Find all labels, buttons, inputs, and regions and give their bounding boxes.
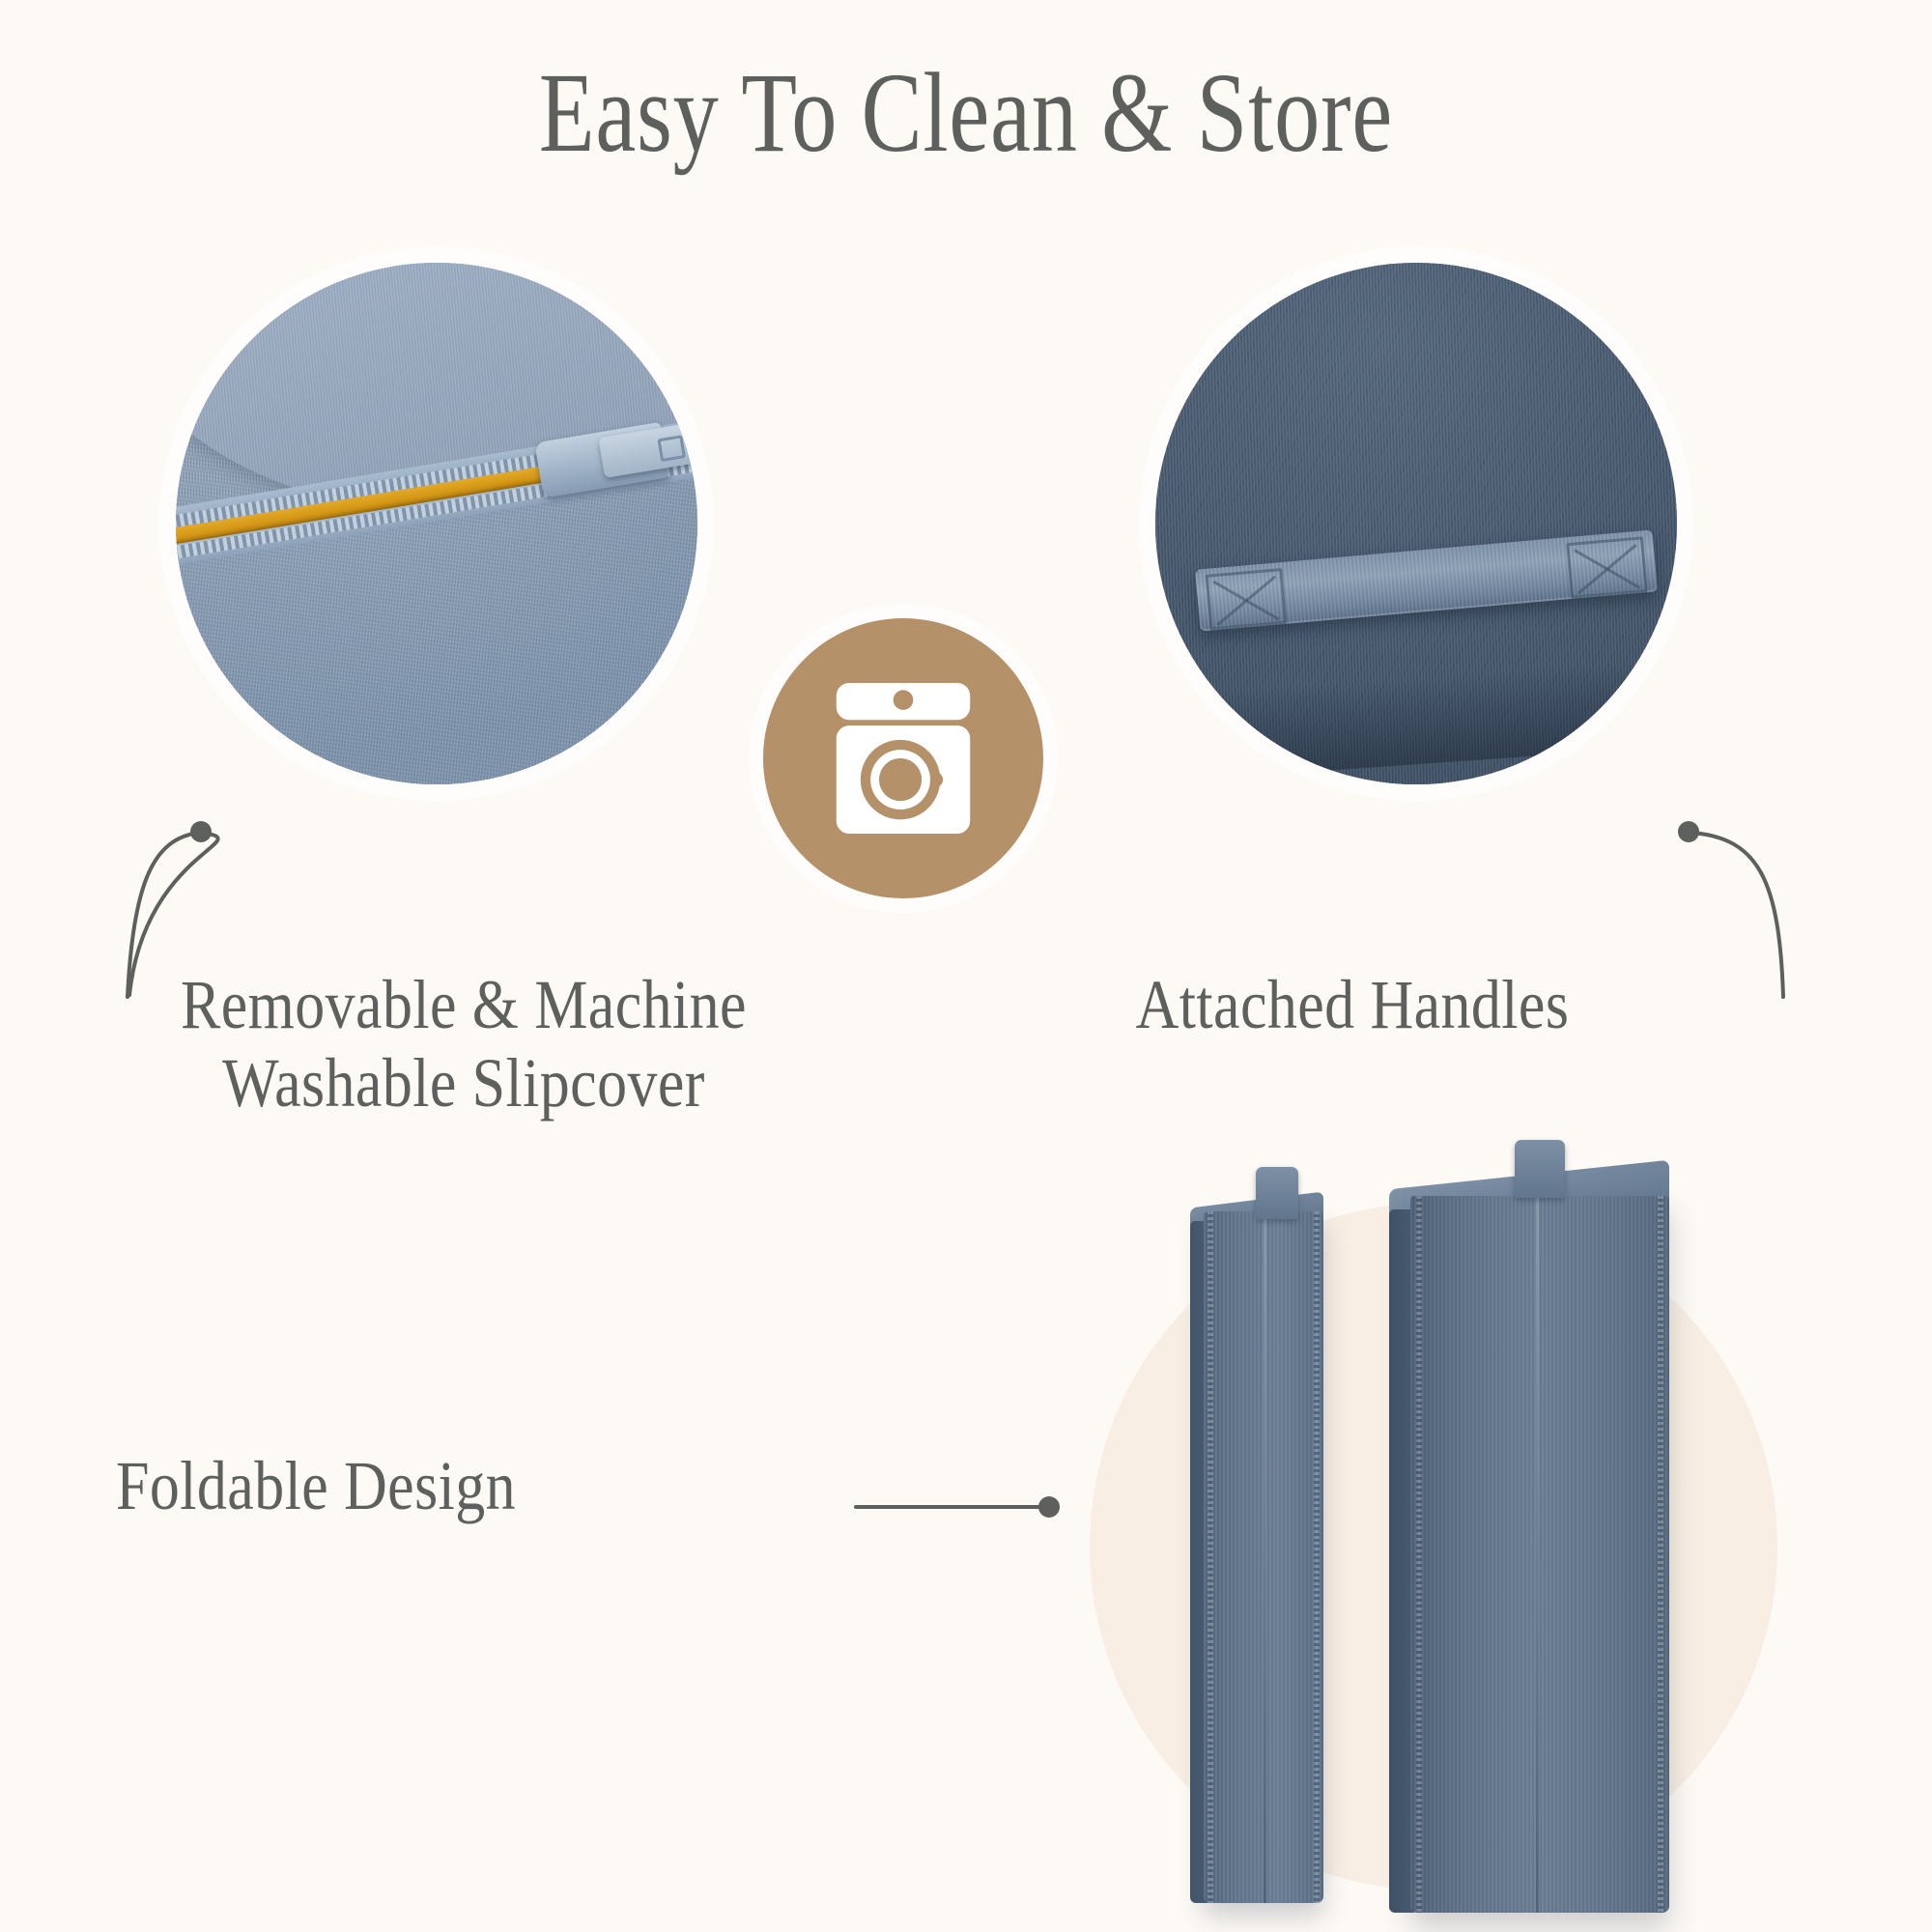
connector-dot-slipcover: [190, 821, 212, 842]
caption-foldable: Foldable Design: [116, 1447, 748, 1525]
folded-mattress-handle-narrow: [1256, 1167, 1298, 1219]
caption-handles: Attached Handles: [904, 966, 1802, 1044]
block-fold-seam: [1536, 1196, 1539, 1913]
machine-washable-badge: [763, 618, 1043, 898]
connector-dot-handles: [1678, 821, 1699, 842]
connector-line-foldable: [850, 1468, 1072, 1546]
block-velvet-texture: [1410, 1196, 1669, 1913]
block-front-face: [1410, 1196, 1669, 1913]
caption-slipcover-line2: Washable Slipcover: [131, 1044, 796, 1122]
folded-mattress-handle-wide: [1515, 1140, 1565, 1198]
block-zipper-right: [1658, 1196, 1663, 1913]
block-fold-seam: [1264, 1211, 1266, 1903]
caption-handles-line1: Attached Handles: [904, 966, 1802, 1044]
block-zipper-left: [1416, 1196, 1422, 1913]
folded-mattress-narrow: [1190, 1186, 1323, 1903]
x-box-stitch-left: [1206, 568, 1288, 631]
folded-mattress-wide: [1389, 1159, 1669, 1913]
block-front-face: [1204, 1211, 1323, 1903]
washing-machine-icon: [831, 680, 976, 837]
x-box-stitch-right: [1567, 536, 1649, 599]
block-zipper-right: [1314, 1211, 1320, 1903]
caption-slipcover-line1: Removable & Machine: [131, 966, 796, 1044]
block-zipper-left: [1207, 1211, 1213, 1903]
infographic-canvas: Easy To Clean & Store: [0, 0, 1932, 1932]
caption-slipcover: Removable & Machine Washable Slipcover: [131, 966, 796, 1122]
attached-handle-photo: [1155, 263, 1677, 784]
slipcover-zipper-photo: [176, 263, 697, 784]
caption-foldable-line1: Foldable Design: [116, 1447, 748, 1525]
connector-dot-foldable: [1038, 1496, 1060, 1518]
page-title: Easy To Clean & Store: [193, 56, 1739, 170]
